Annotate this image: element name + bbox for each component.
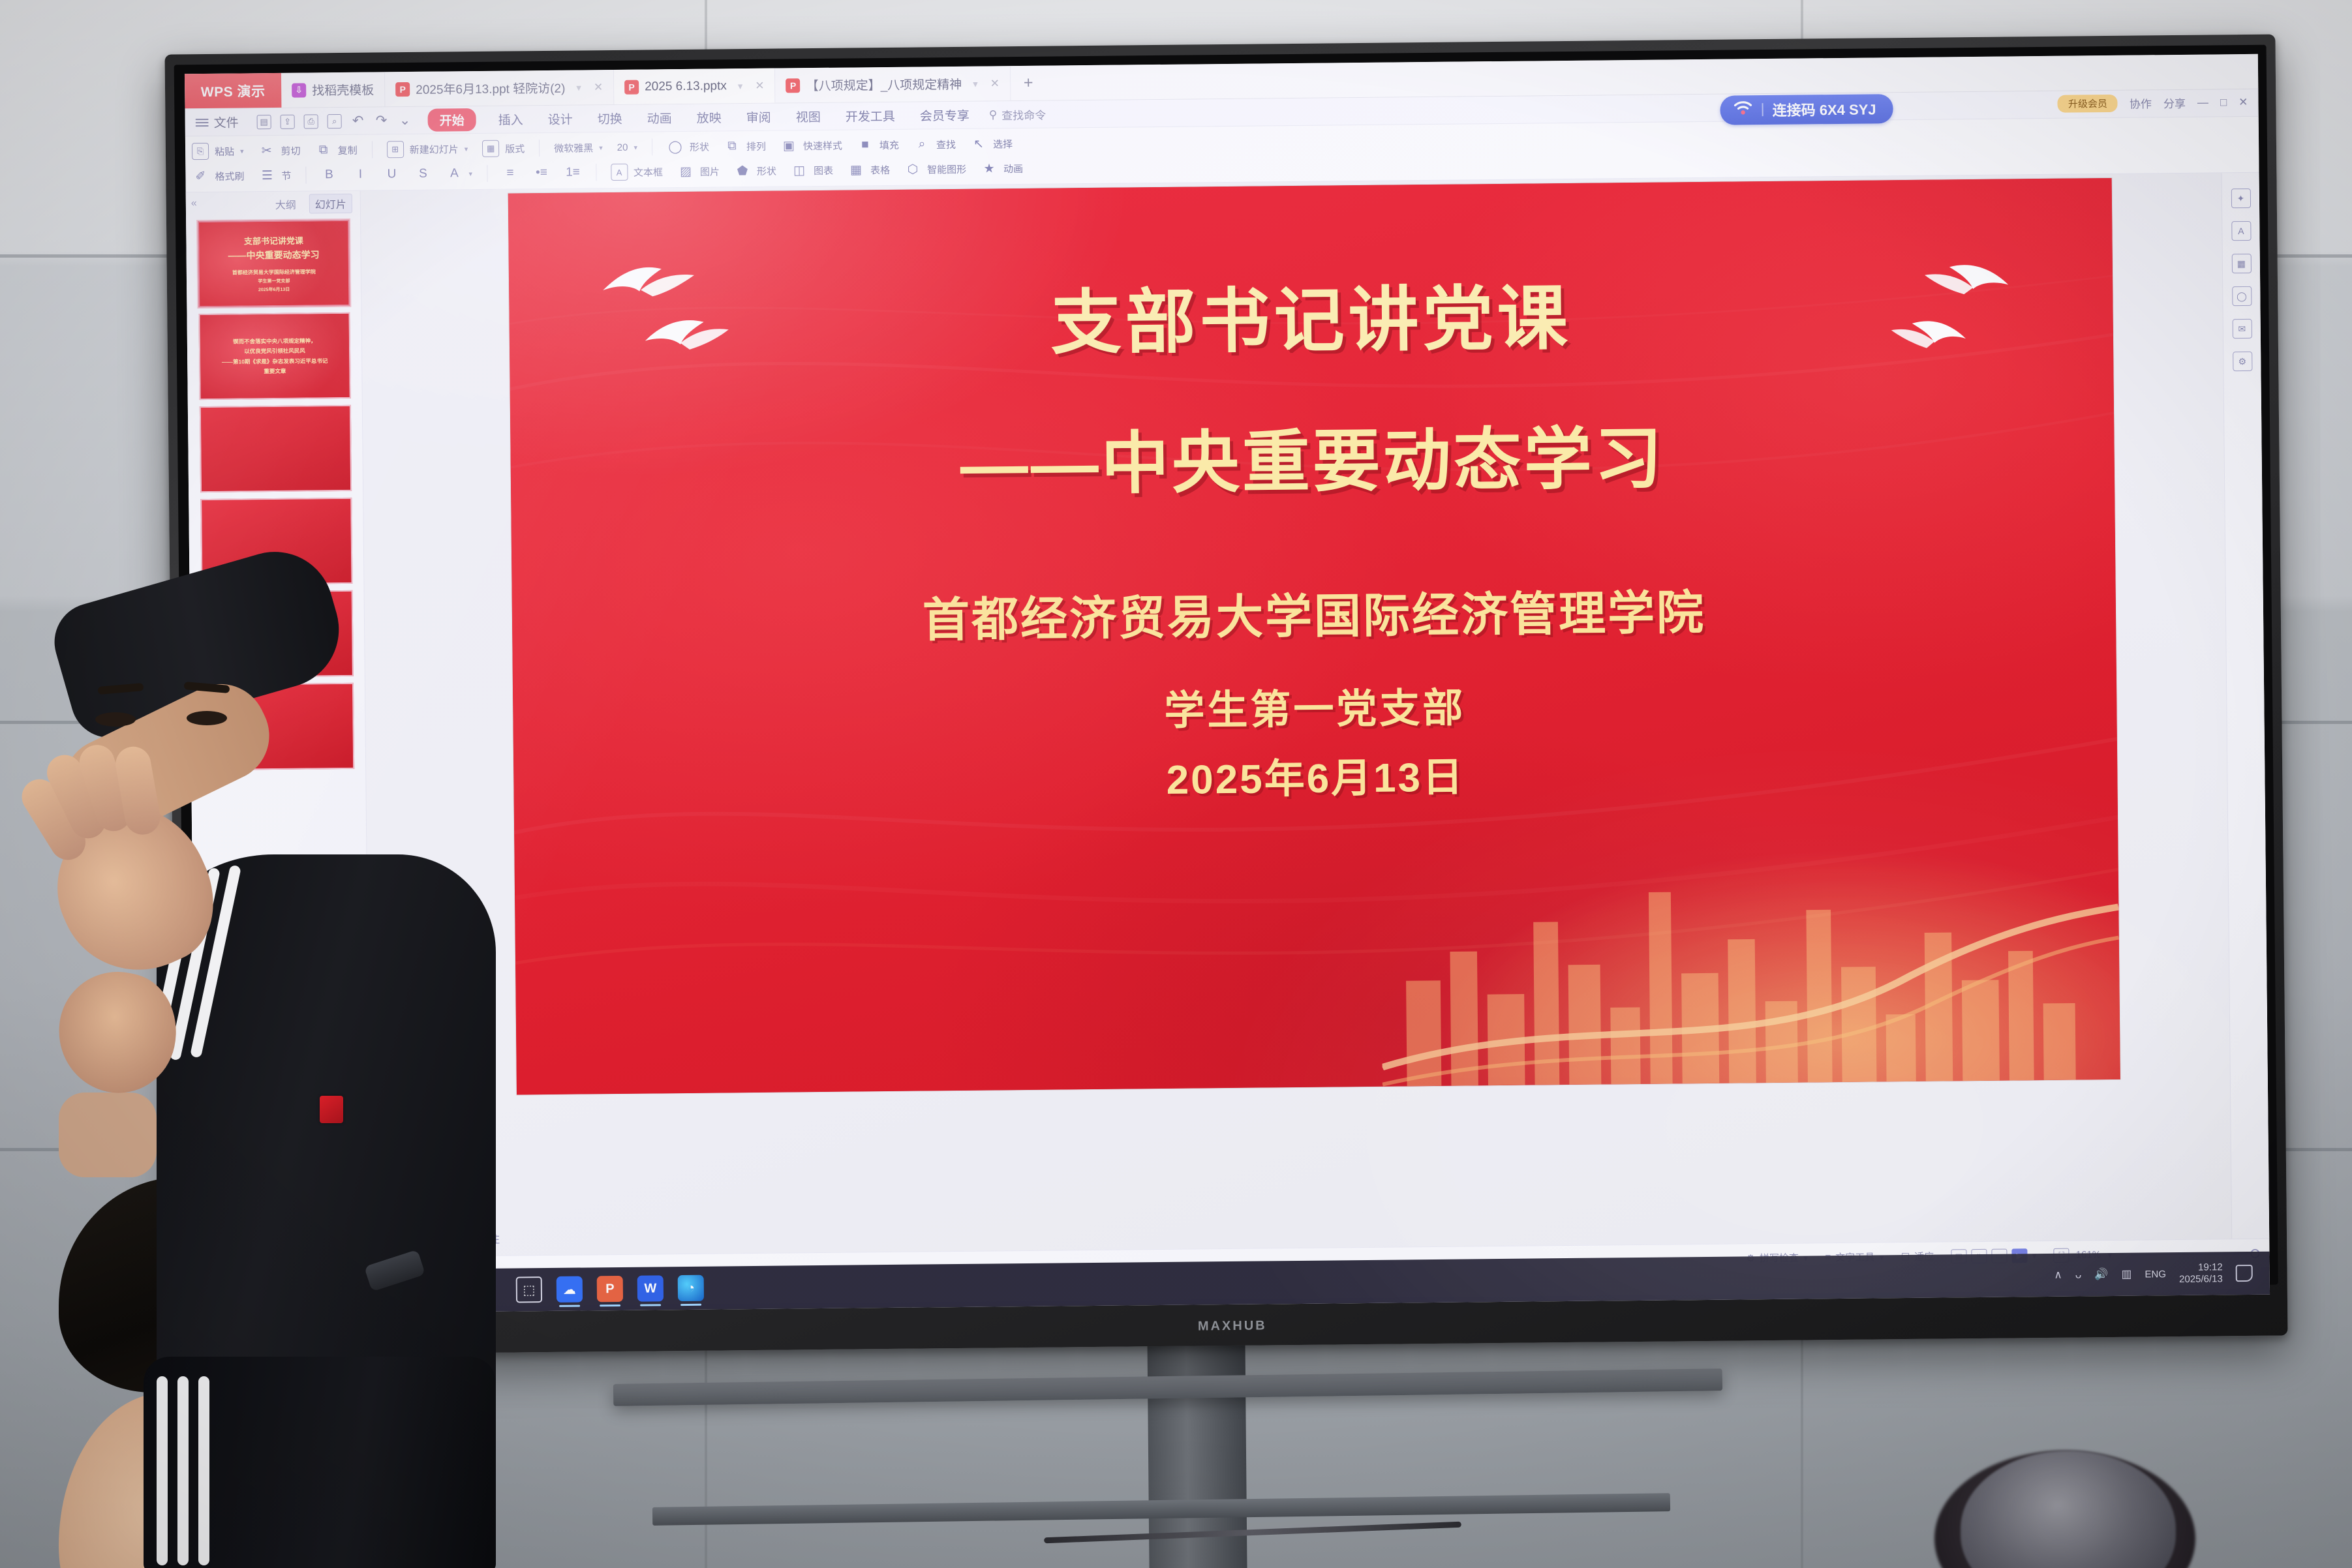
- shape-library-icon[interactable]: ◯: [2232, 286, 2252, 306]
- tab-options-icon[interactable]: ▾: [738, 80, 743, 92]
- search-icon: ⌕: [913, 136, 930, 153]
- shorts-stripe: [177, 1376, 189, 1565]
- font-family-select[interactable]: 微软雅黑 ▾: [554, 141, 603, 155]
- language-indicator[interactable]: ENG: [2145, 1269, 2166, 1280]
- ribbon-tabs: 开始 插入 设计 切换 动画 放映 审阅 视图 开发工具 会员专享: [427, 104, 971, 132]
- close-icon[interactable]: ✕: [990, 77, 1000, 90]
- cut-label: 剪切: [281, 143, 301, 157]
- format-painter-button[interactable]: ✐ 格式刷: [192, 167, 244, 185]
- chevron-down-icon[interactable]: ▾: [240, 147, 244, 155]
- minimize-button[interactable]: —: [2197, 96, 2208, 109]
- bold-button[interactable]: B: [320, 166, 337, 183]
- smartart-button[interactable]: ⬡ 智能图形: [904, 160, 966, 178]
- slide-subtitle[interactable]: ——中央重要动态学习: [960, 403, 1665, 508]
- slide-title[interactable]: 支部书记讲党课: [1050, 262, 1572, 369]
- print-preview-icon[interactable]: ⌕: [328, 113, 342, 128]
- chevron-down-icon[interactable]: ▾: [465, 145, 468, 153]
- table-label: 表格: [870, 162, 890, 176]
- chevron-down-icon[interactable]: ▾: [634, 143, 637, 151]
- new-slide-icon: ⊞: [387, 141, 404, 158]
- align-left-icon: ≡: [502, 164, 519, 181]
- clock-date: 2025/6/13: [2179, 1273, 2223, 1286]
- notification-icon[interactable]: [2236, 1265, 2253, 1282]
- slide-date[interactable]: 2025年6月13日: [1166, 744, 1465, 806]
- ribbon-tab-transition[interactable]: 切换: [595, 108, 625, 129]
- tab-template-store[interactable]: ⇩ 找稻壳模板: [281, 72, 386, 108]
- search-placeholder: 查找命令: [1001, 106, 1046, 123]
- thumb-subtitle: ——中央重要动态学习: [228, 248, 320, 262]
- collaborate-icon[interactable]: 协作: [2130, 95, 2152, 111]
- shape-label: 形状: [690, 140, 709, 153]
- qat-more-icon[interactable]: ⌄: [398, 113, 412, 127]
- thumb-branch: 学生第一党支部: [258, 278, 290, 284]
- shorts-stripe: [157, 1376, 168, 1565]
- close-icon[interactable]: ✕: [755, 79, 764, 92]
- tab-outline[interactable]: 大纲: [270, 195, 301, 213]
- text-color-button[interactable]: A ▾: [446, 165, 472, 182]
- cloud-save-icon[interactable]: ⇪: [281, 114, 295, 128]
- new-slide-button[interactable]: ⊞ 新建幻灯片 ▾: [387, 140, 468, 158]
- tab-options-icon[interactable]: ▾: [576, 82, 581, 93]
- numbering-button[interactable]: 1≡: [564, 164, 581, 181]
- ppt-icon: P: [395, 82, 410, 96]
- strikethrough-icon: S: [414, 166, 431, 183]
- maximize-button[interactable]: □: [2220, 96, 2227, 109]
- section-button[interactable]: ☰ 节: [258, 167, 291, 184]
- chart-label: 图表: [814, 163, 833, 177]
- ribbon-tab-home[interactable]: 开始: [427, 108, 476, 132]
- paste-label: 粘贴: [215, 144, 234, 158]
- smartart-label: 智能图形: [927, 162, 966, 176]
- template-icon: ⇩: [292, 83, 306, 97]
- cut-button[interactable]: ✂ 剪切: [258, 142, 301, 160]
- section-label: 节: [281, 168, 291, 182]
- copy-label: 复制: [338, 143, 358, 157]
- slide-branch[interactable]: 学生第一党支部: [1164, 674, 1466, 736]
- collapse-panel-icon[interactable]: «: [191, 198, 197, 209]
- fill-button[interactable]: ■ 填充: [857, 136, 899, 154]
- strikethrough-button[interactable]: S: [414, 166, 431, 183]
- toolbar-separator: [539, 140, 540, 157]
- chevron-down-icon[interactable]: ▾: [599, 143, 603, 152]
- scissors-icon: ✂: [258, 142, 275, 159]
- ribbon-tab-developer[interactable]: 开发工具: [843, 105, 898, 127]
- thumbnail-text: 锲而不舍落实中央八项规定精神， 以优良党风引领社风民风 ——第10期《求是》杂志…: [200, 314, 349, 399]
- display-icon[interactable]: ▥: [2121, 1268, 2131, 1281]
- ribbon-tab-slideshow[interactable]: 放映: [694, 106, 724, 128]
- shapes-label: 形状: [757, 164, 776, 177]
- quick-style-label: 快速样式: [803, 138, 842, 153]
- fill-icon: ■: [857, 136, 874, 153]
- thumb-org: 首都经济贸易大学国际经济管理学院: [232, 268, 316, 276]
- picture-button[interactable]: ▨ 图片: [677, 162, 720, 180]
- bullets-button[interactable]: •≡: [533, 164, 550, 181]
- thumb-date: 2025年6月13日: [258, 286, 290, 293]
- thumbnail-background: [201, 406, 350, 491]
- eye: [187, 711, 227, 725]
- select-label: 选择: [993, 137, 1013, 151]
- tab-document-3[interactable]: P 【八项规定】_八项规定精神 ▾ ✕: [775, 66, 1011, 102]
- clock-time: 19:12: [2198, 1261, 2223, 1273]
- rail-settings-icon[interactable]: ⚙: [2233, 352, 2252, 371]
- taskbar-tray: ∧ ᴗ 🔊 ▥ ENG 19:12 2025/6/13: [2054, 1261, 2270, 1287]
- print-icon[interactable]: ⎙: [304, 114, 318, 128]
- thumbnail-slide-1[interactable]: 支部书记讲党课 ——中央重要动态学习 首都经济贸易大学国际经济管理学院 学生第一…: [198, 220, 350, 307]
- close-window-button[interactable]: ✕: [2238, 95, 2248, 108]
- animation-label: 动画: [1003, 161, 1023, 175]
- toolbar-separator: [372, 142, 373, 158]
- toolbar-separator: [305, 167, 306, 184]
- font-size-select[interactable]: 20 ▾: [617, 142, 637, 153]
- window-controls-area: 升级会员 协作 分享 — □ ✕: [2058, 93, 2248, 113]
- ppt-icon: P: [624, 80, 639, 94]
- presenter-person: [59, 574, 763, 1568]
- tab-options-icon[interactable]: ▾: [973, 78, 978, 89]
- quick-style-button[interactable]: ▣ 快速样式: [780, 137, 842, 155]
- ribbon-tab-member[interactable]: 会员专享: [917, 104, 972, 127]
- format-painter-label: 格式刷: [215, 169, 244, 183]
- file-menu-label: 文件: [214, 113, 239, 131]
- table-icon: ▦: [848, 161, 864, 178]
- thumbnail-slide-3[interactable]: [200, 405, 352, 492]
- party-badge-pin: [320, 1096, 343, 1123]
- tab-label: 2025 6.13.pptx: [645, 79, 727, 94]
- undo-icon[interactable]: ↶: [351, 113, 365, 128]
- ribbon-tab-insert[interactable]: 插入: [496, 108, 526, 130]
- hamburger-icon: [196, 116, 209, 128]
- format-painter-icon: ✐: [192, 168, 209, 185]
- paste-button[interactable]: ⎘ 粘贴 ▾: [192, 142, 244, 160]
- find-label: 查找: [936, 137, 956, 151]
- smartart-icon: ⬡: [904, 160, 921, 177]
- underline-icon: U: [383, 166, 400, 183]
- text-box-label: 文本框: [634, 165, 663, 179]
- connection-code-label: 连接码 6X4 SYJ: [1772, 98, 1876, 120]
- chart-icon: ◫: [791, 162, 808, 179]
- shorts-stripe: [198, 1376, 209, 1565]
- table-button[interactable]: ▦ 表格: [848, 161, 890, 179]
- arrange-label: 排列: [746, 139, 766, 153]
- shape-button[interactable]: ◯ 形状: [667, 138, 709, 156]
- fill-label: 填充: [879, 138, 899, 151]
- text-box-button[interactable]: A 文本框: [611, 163, 663, 181]
- tab-document-2[interactable]: P 2025 6.13.pptx ▾ ✕: [614, 68, 776, 104]
- wifi-icon: [1733, 100, 1752, 119]
- animation-icon: ★: [981, 160, 998, 177]
- thumb-line-1: 锲而不舍落实中央八项规定精神，: [233, 337, 316, 346]
- ribbon-tab-review[interactable]: 审阅: [744, 106, 774, 128]
- arrange-button[interactable]: ⧉ 排列: [724, 138, 766, 155]
- shapes-icon: ⬟: [734, 162, 751, 179]
- badge-divider: [1762, 103, 1764, 116]
- share-icon[interactable]: 分享: [2163, 95, 2186, 111]
- thumb-line-2: 以优良党风引领社风民风: [244, 347, 305, 355]
- toolbar-separator: [652, 138, 652, 155]
- feedback-icon[interactable]: ✉: [2232, 319, 2252, 339]
- search-icon: ⚲: [989, 108, 998, 121]
- thumbnail-text: 支部书记讲党课 ——中央重要动态学习 首都经济贸易大学国际经济管理学院 学生第一…: [199, 221, 348, 306]
- italic-button[interactable]: I: [352, 166, 369, 183]
- presenter-neck: [59, 1093, 157, 1177]
- animation-button[interactable]: ★ 动画: [981, 160, 1023, 177]
- taskbar-clock[interactable]: 19:12 2025/6/13: [2179, 1261, 2223, 1286]
- redo-icon[interactable]: ↷: [374, 113, 389, 128]
- ribbon-tab-animation[interactable]: 动画: [645, 107, 675, 128]
- picture-label: 图片: [700, 164, 720, 178]
- volume-icon[interactable]: 🔊: [2094, 1268, 2108, 1281]
- upgrade-badge[interactable]: 升级会员: [2058, 95, 2118, 113]
- font-family-value: 微软雅黑: [554, 141, 593, 155]
- shape-icon: ◯: [667, 138, 684, 155]
- text-color-icon: A: [446, 165, 463, 182]
- underline-button[interactable]: U: [383, 166, 400, 183]
- thumb-title: 支部书记讲党课: [244, 234, 303, 247]
- numbering-icon: 1≡: [564, 164, 581, 181]
- ppt-icon: P: [786, 78, 801, 93]
- thumb-line-3: ——第10期《求是》杂志发表习近平总书记: [222, 357, 328, 366]
- picture-icon: ▨: [677, 163, 694, 180]
- layout-icon: ▦: [482, 140, 499, 157]
- tab-label: 2025年6月13.ppt 轻院访(2): [416, 79, 565, 98]
- copy-button[interactable]: ⧉ 复制: [315, 142, 358, 159]
- chart-button[interactable]: ◫ 图表: [791, 162, 833, 179]
- command-search[interactable]: ⚲ 查找命令: [989, 106, 1046, 123]
- eye: [95, 712, 136, 727]
- quick-style-icon: ▣: [780, 137, 797, 154]
- find-replace-button[interactable]: ⌕ 查找: [913, 136, 956, 153]
- select-button[interactable]: ↖ 选择: [970, 135, 1013, 153]
- bold-icon: B: [320, 166, 337, 183]
- ai-assistant-icon[interactable]: A: [2231, 221, 2251, 241]
- layout-label: 版式: [505, 142, 525, 155]
- ribbon-tab-view[interactable]: 视图: [793, 106, 823, 127]
- connection-code-badge[interactable]: 连接码 6X4 SYJ: [1720, 94, 1893, 125]
- toolbar-separator: [487, 165, 487, 182]
- tab-label: 【八项规定】_八项规定精神: [806, 75, 962, 94]
- paste-icon: ⎘: [192, 143, 209, 160]
- new-tab-button[interactable]: +: [1011, 66, 1046, 101]
- show-hidden-icons[interactable]: ∧: [2054, 1269, 2062, 1282]
- new-slide-label: 新建幻灯片: [410, 142, 459, 157]
- italic-icon: I: [352, 166, 369, 183]
- section-icon: ☰: [258, 167, 275, 184]
- thumbnail-slide-2[interactable]: 锲而不舍落实中央八项规定精神， 以优良党风引领社风民风 ——第10期《求是》杂志…: [198, 312, 350, 400]
- resource-icon[interactable]: ▦: [2231, 254, 2251, 273]
- copy-icon: ⧉: [315, 142, 332, 158]
- wps-logo: WPS 演示: [185, 73, 282, 108]
- tab-document-1[interactable]: P 2025年6月13.ppt 轻院访(2) ▾ ✕: [385, 70, 614, 106]
- close-icon[interactable]: ✕: [594, 81, 603, 94]
- chevron-down-icon[interactable]: ▾: [468, 170, 472, 178]
- design-ideas-icon[interactable]: ✦: [2231, 188, 2250, 208]
- font-size-value: 20: [617, 142, 628, 153]
- toolbar-separator: [596, 164, 596, 181]
- network-icon[interactable]: ᴗ: [2075, 1268, 2082, 1281]
- bullets-icon: •≡: [533, 164, 550, 181]
- tab-label: 找稻壳模板: [312, 81, 374, 99]
- tv-brand-label: MAXHUB: [1198, 1318, 1267, 1334]
- align-left-button[interactable]: ≡: [502, 164, 519, 181]
- tab-slides[interactable]: 幻灯片: [309, 194, 352, 214]
- ribbon-tab-design[interactable]: 设计: [545, 108, 575, 130]
- quick-access-toolbar: ▤ ⇪ ⎙ ⌕ ↶ ↷ ⌄: [248, 113, 421, 129]
- thumbnail-pane-header: « 大纲 幻灯片: [186, 191, 360, 218]
- save-icon[interactable]: ▤: [257, 115, 271, 129]
- file-menu-button[interactable]: 文件: [193, 113, 248, 131]
- slide-organization[interactable]: 首都经济贸易大学国际经济管理学院: [922, 574, 1705, 650]
- text-box-icon: A: [611, 164, 628, 181]
- shapes-button[interactable]: ⬟ 形状: [734, 162, 776, 180]
- layout-button[interactable]: ▦ 版式: [482, 140, 525, 157]
- arrange-icon: ⧉: [724, 138, 741, 155]
- thumb-line-4: 重要文章: [264, 367, 286, 376]
- select-icon: ↖: [970, 135, 987, 152]
- presenter-shorts: [144, 1357, 496, 1568]
